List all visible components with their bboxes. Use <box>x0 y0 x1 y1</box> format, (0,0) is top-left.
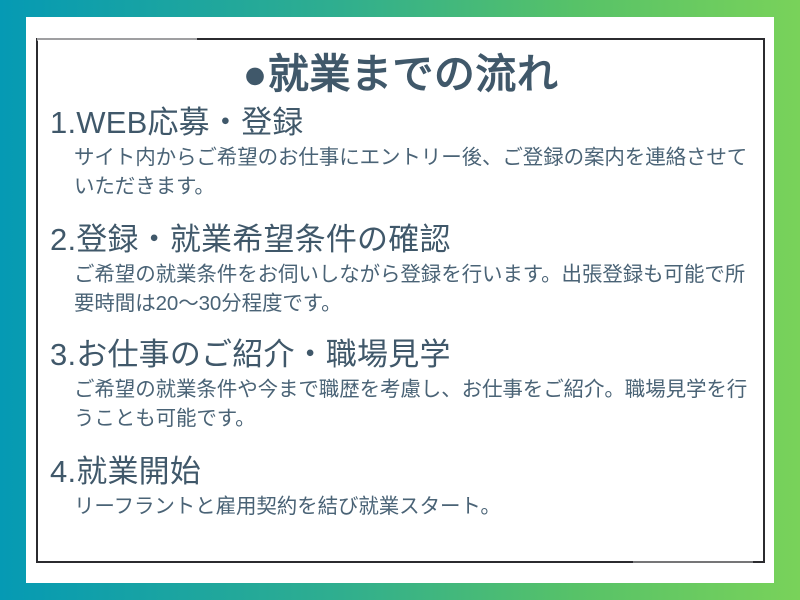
page-title: ●就業までの流れ <box>50 52 751 98</box>
step-heading-3: 3.お仕事のご紹介・職場見学 <box>50 336 751 374</box>
step-heading-4: 4.就業開始 <box>50 453 751 491</box>
step-heading-2: 2.登録・就業希望条件の確認 <box>50 221 751 259</box>
step-heading-1: 1.WEB応募・登録 <box>50 104 751 142</box>
step-body-3: ご希望の就業条件や今まで職歴を考慮し、お仕事をご紹介。職場見学を行うことも可能で… <box>74 375 751 433</box>
step-body-4: リーフラントと雇用契約を結び就業スタート。 <box>74 492 751 521</box>
step-body-2: ご希望の就業条件をお伺いしながら登録を行います。出張登録も可能で所要時間は20～… <box>74 260 751 318</box>
step-item-2: 2.登録・就業希望条件の確認 ご希望の就業条件をお伺いしながら登録を行います。出… <box>50 221 751 318</box>
poster-content: ●就業までの流れ 1.WEB応募・登録 サイト内からご希望のお仕事にエントリー後… <box>36 38 765 563</box>
step-body-1: サイト内からご希望のお仕事にエントリー後、ご登録の案内を連絡させていただきます。 <box>74 143 751 201</box>
step-item-3: 3.お仕事のご紹介・職場見学 ご希望の就業条件や今まで職歴を考慮し、お仕事をご紹… <box>50 336 751 433</box>
step-item-4: 4.就業開始 リーフラントと雇用契約を結び就業スタート。 <box>50 453 751 521</box>
step-item-1: 1.WEB応募・登録 サイト内からご希望のお仕事にエントリー後、ご登録の案内を連… <box>50 104 751 201</box>
poster-root: ●就業までの流れ 1.WEB応募・登録 サイト内からご希望のお仕事にエントリー後… <box>0 0 800 600</box>
